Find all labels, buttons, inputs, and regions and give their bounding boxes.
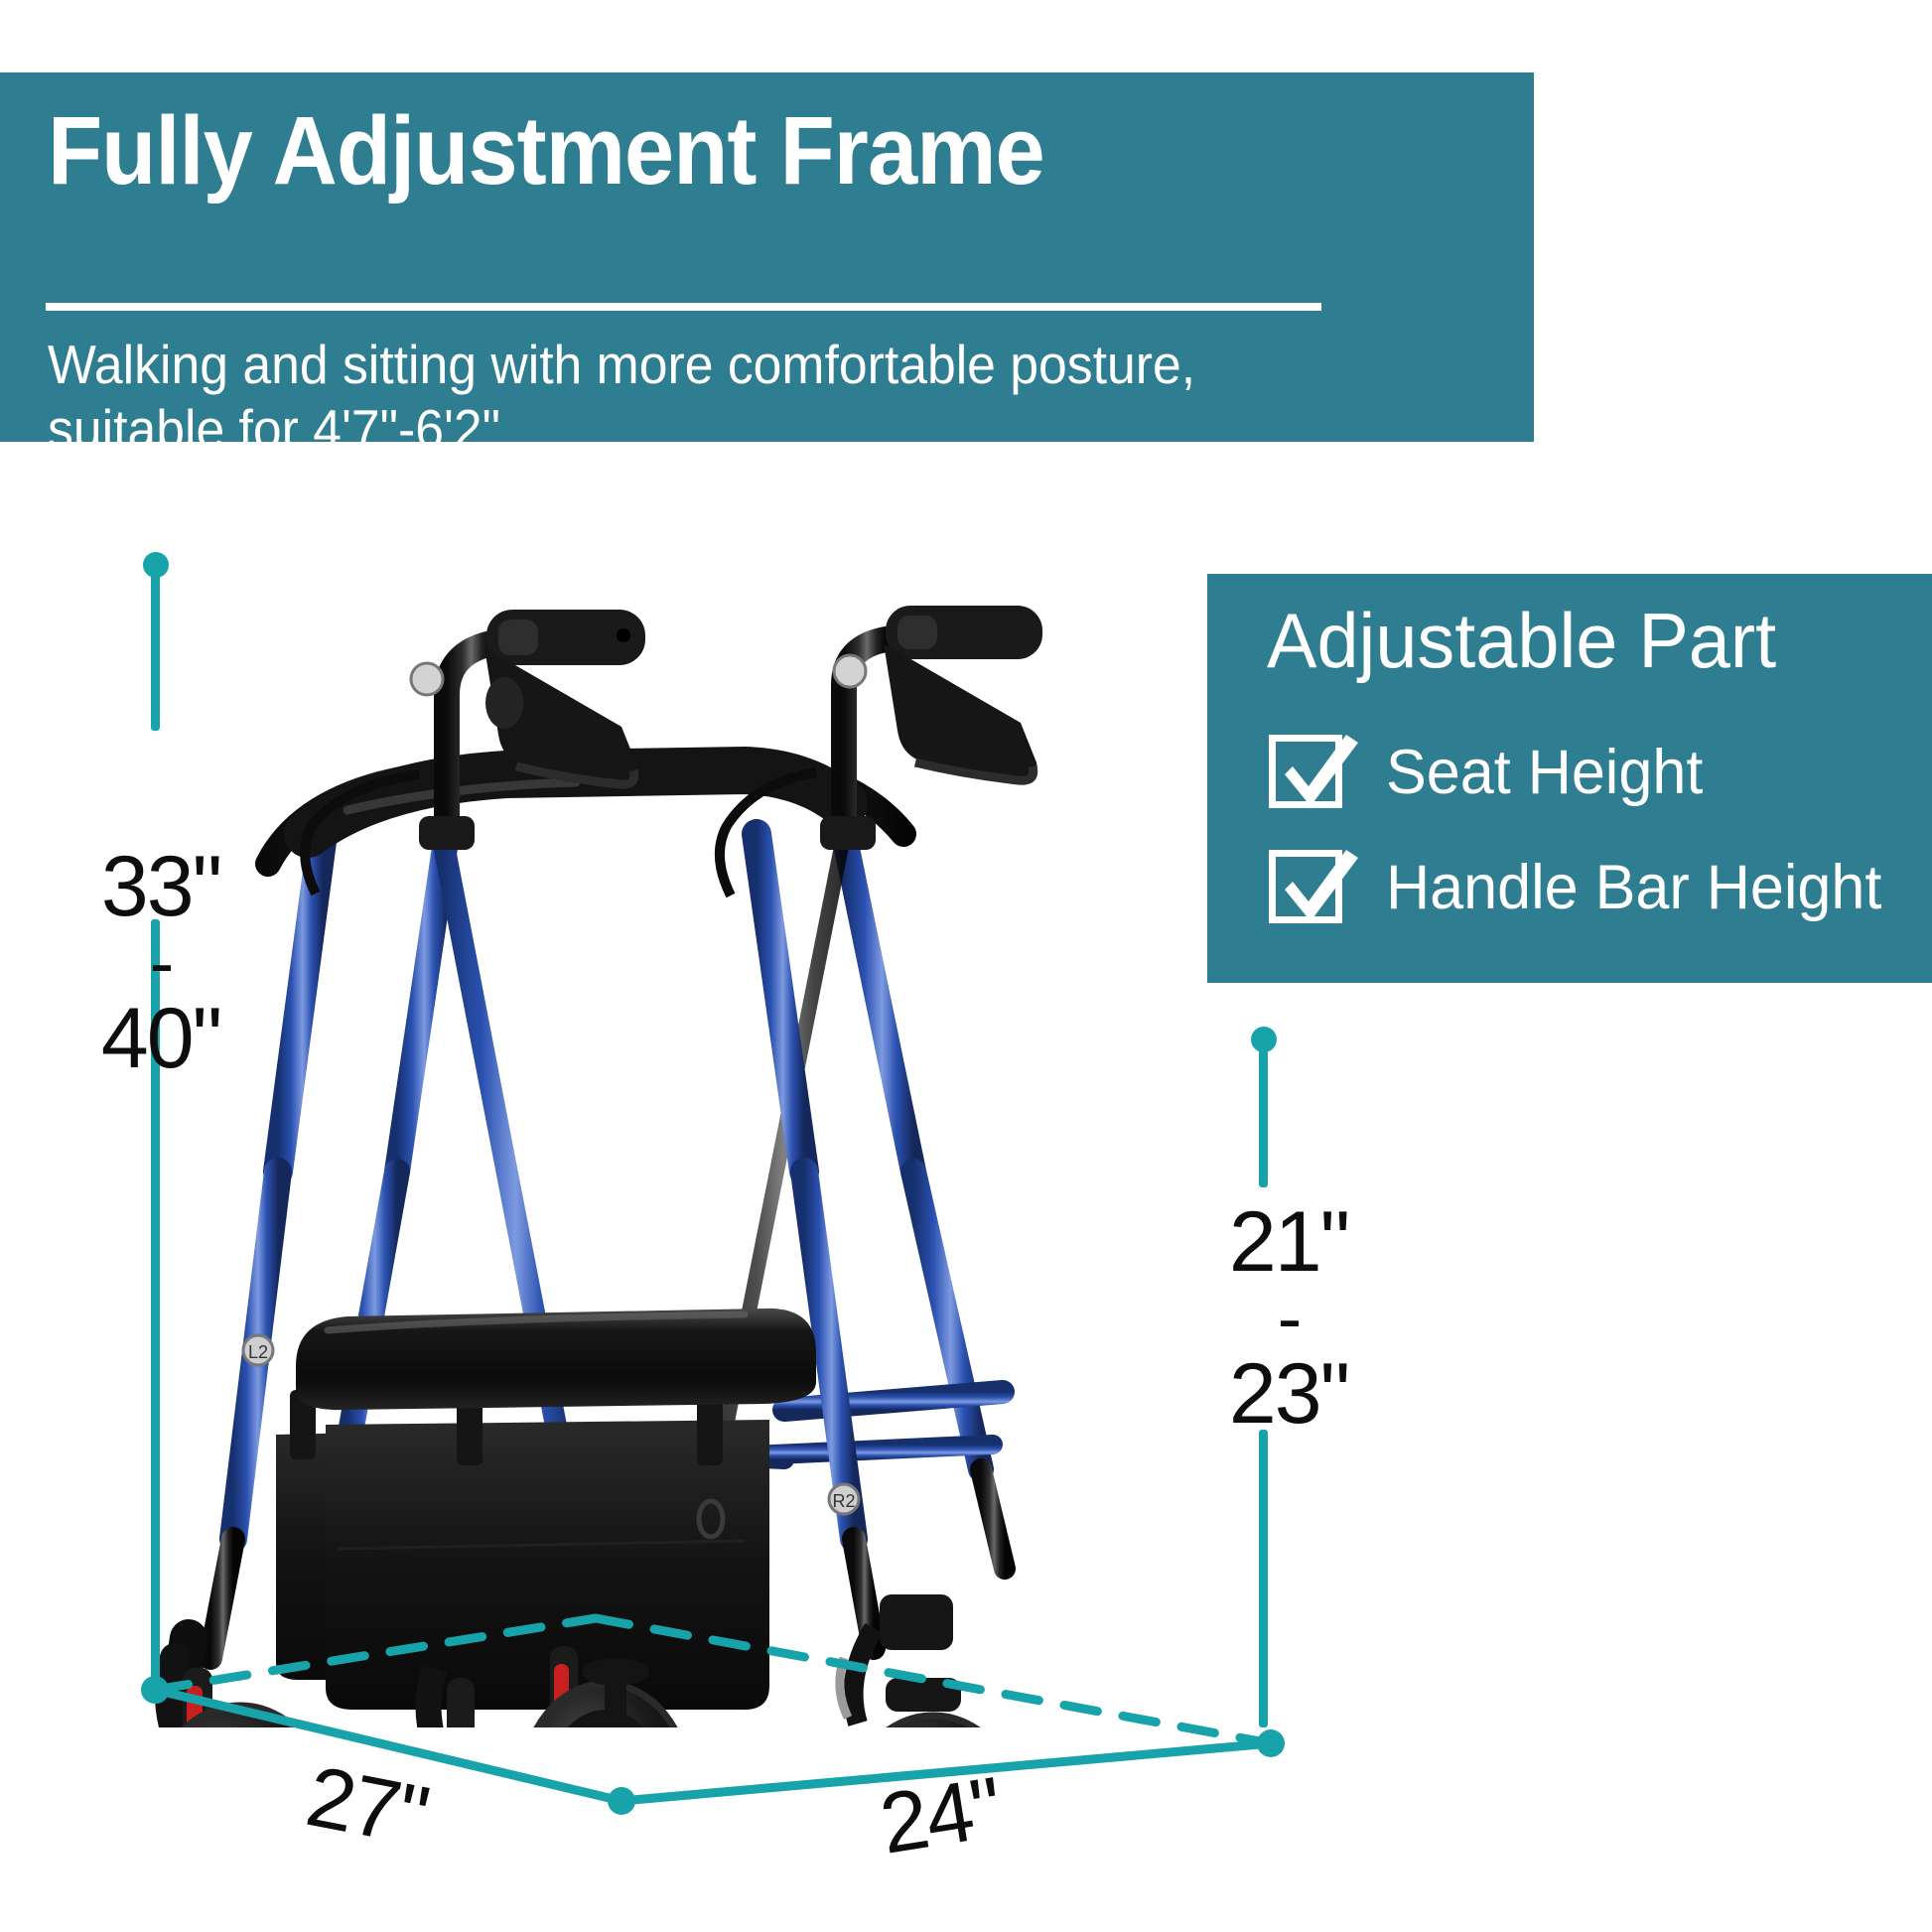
svg-text:L2: L2 — [248, 1342, 268, 1362]
checkbox-checked-icon — [1269, 731, 1352, 814]
footprint-outline — [0, 1549, 1390, 1906]
header-banner: Fully Adjustment Frame Walking and sitti… — [0, 72, 1534, 442]
adjustable-item-label: Seat Height — [1386, 742, 1703, 804]
dimension-line-seat-height-upper — [1259, 1040, 1268, 1187]
adjustable-part-panel: Adjustable Part Seat Height Handle Bar H… — [1207, 574, 1932, 983]
adjustable-part-title: Adjustable Part — [1267, 602, 1776, 679]
svg-text:R2: R2 — [832, 1491, 855, 1511]
handle-grip-left — [486, 610, 645, 665]
checkbox-checked-icon — [1269, 846, 1352, 929]
dimension-label-seat-height: 21" - 23" — [1179, 1203, 1398, 1434]
adjustable-item-label: Handle Bar Height — [1386, 857, 1881, 919]
brake-lever-right — [884, 643, 1037, 783]
adjustable-item-handle-bar-height: Handle Bar Height — [1269, 846, 1897, 929]
seat-cushion — [296, 1309, 816, 1410]
handle-assembly-left — [305, 610, 645, 894]
handle-grip-right — [886, 606, 1042, 659]
adjustable-item-seat-height: Seat Height — [1269, 731, 1713, 814]
infographic-canvas: Fully Adjustment Frame Walking and sitti… — [0, 0, 1932, 1932]
page-title: Fully Adjustment Frame — [48, 102, 1044, 199]
header-subtitle: Walking and sitting with more comfortabl… — [48, 333, 1373, 462]
dimension-line-handle-height-upper — [151, 568, 160, 731]
dimension-label-handle-height: 33" - 40" — [52, 848, 270, 1078]
dimension-label-width: 24" — [874, 1758, 1007, 1874]
title-divider — [46, 303, 1321, 311]
